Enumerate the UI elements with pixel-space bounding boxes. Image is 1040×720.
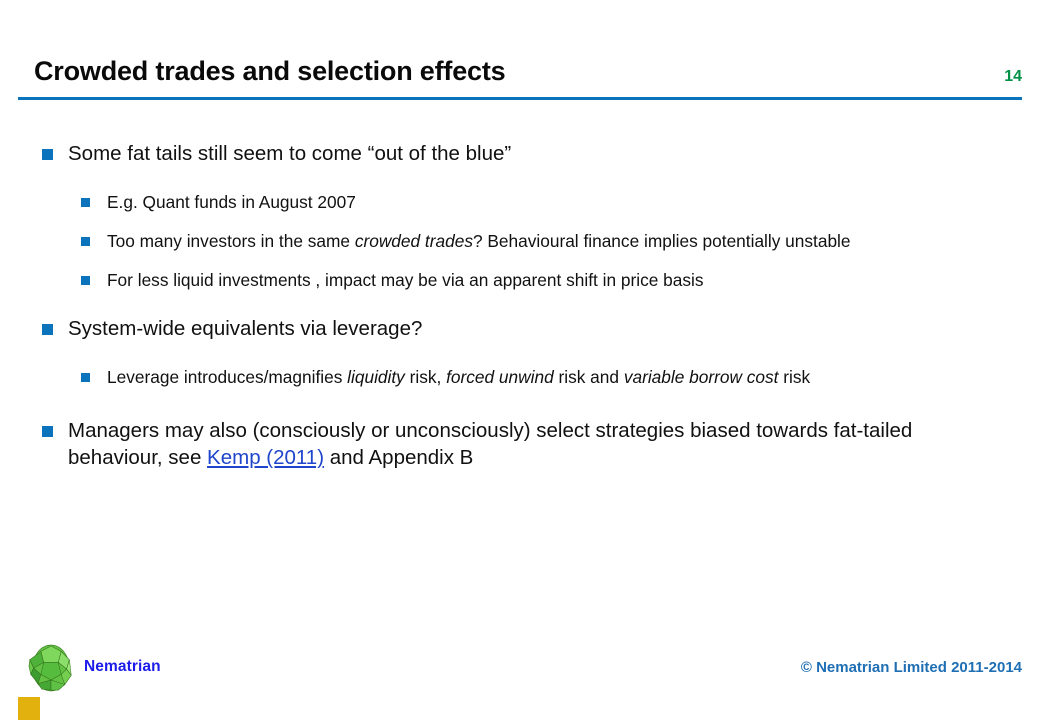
bullet-text: risk, xyxy=(405,367,446,387)
bullet-level2: Leverage introduces/magnifies liquidity … xyxy=(0,365,1040,390)
footer-brand-label: Nematrian xyxy=(84,658,161,676)
page-title: Crowded trades and selection effects xyxy=(34,56,505,87)
emphasis-text: variable borrow cost xyxy=(624,367,779,387)
bullet-spacer xyxy=(0,395,1040,417)
emphasis-text: forced unwind xyxy=(446,367,554,387)
square-bullet-icon xyxy=(81,276,90,285)
bullet-text: risk xyxy=(778,367,810,387)
square-bullet-icon xyxy=(81,373,90,382)
bullet-level2: E.g. Quant funds in August 2007 xyxy=(0,190,1040,215)
nematrian-polyhedron-logo xyxy=(28,644,74,692)
bullet-text: System-wide equivalents via leverage? xyxy=(68,317,422,340)
bullet-level2: Too many investors in the same crowded t… xyxy=(0,229,1040,254)
bullet-spacer xyxy=(0,298,1040,315)
corner-accent-square xyxy=(18,697,40,720)
bullet-level1: Managers may also (consciously or uncons… xyxy=(0,417,1040,471)
reference-link-kemp-2011[interactable]: Kemp (2011) xyxy=(207,446,324,469)
slide-body: Some fat tails still seem to come “out o… xyxy=(0,140,1040,477)
bullet-text: ? Behavioural finance implies potentiall… xyxy=(473,231,851,251)
bullet-text: Too many investors in the same xyxy=(107,231,355,251)
square-bullet-icon xyxy=(42,324,53,335)
bullet-spacer xyxy=(0,220,1040,229)
bullet-spacer xyxy=(0,173,1040,190)
bullet-spacer xyxy=(0,259,1040,268)
page-number: 14 xyxy=(982,68,1022,86)
bullet-text: risk and xyxy=(554,367,624,387)
bullet-text: E.g. Quant funds in August 2007 xyxy=(107,192,356,212)
bullet-text: and Appendix B xyxy=(324,446,473,469)
bullet-text: Managers may also (consciously or uncons… xyxy=(68,419,912,469)
square-bullet-icon xyxy=(81,198,90,207)
bullet-text: For less liquid investments , impact may… xyxy=(107,270,703,290)
title-divider xyxy=(18,97,1022,100)
emphasis-text: crowded trades xyxy=(355,231,473,251)
emphasis-text: liquidity xyxy=(347,367,405,387)
bullet-text: Leverage introduces/magnifies xyxy=(107,367,347,387)
square-bullet-icon xyxy=(42,426,53,437)
bullet-text: Some fat tails still seem to come “out o… xyxy=(68,142,511,165)
bullet-spacer xyxy=(0,348,1040,365)
square-bullet-icon xyxy=(81,237,90,246)
footer-copyright: © Nematrian Limited 2011-2014 xyxy=(801,659,1022,676)
bullet-level1: System-wide equivalents via leverage? xyxy=(0,315,1040,342)
bullet-level1: Some fat tails still seem to come “out o… xyxy=(0,140,1040,167)
bullet-level2: For less liquid investments , impact may… xyxy=(0,268,1040,293)
square-bullet-icon xyxy=(42,149,53,160)
